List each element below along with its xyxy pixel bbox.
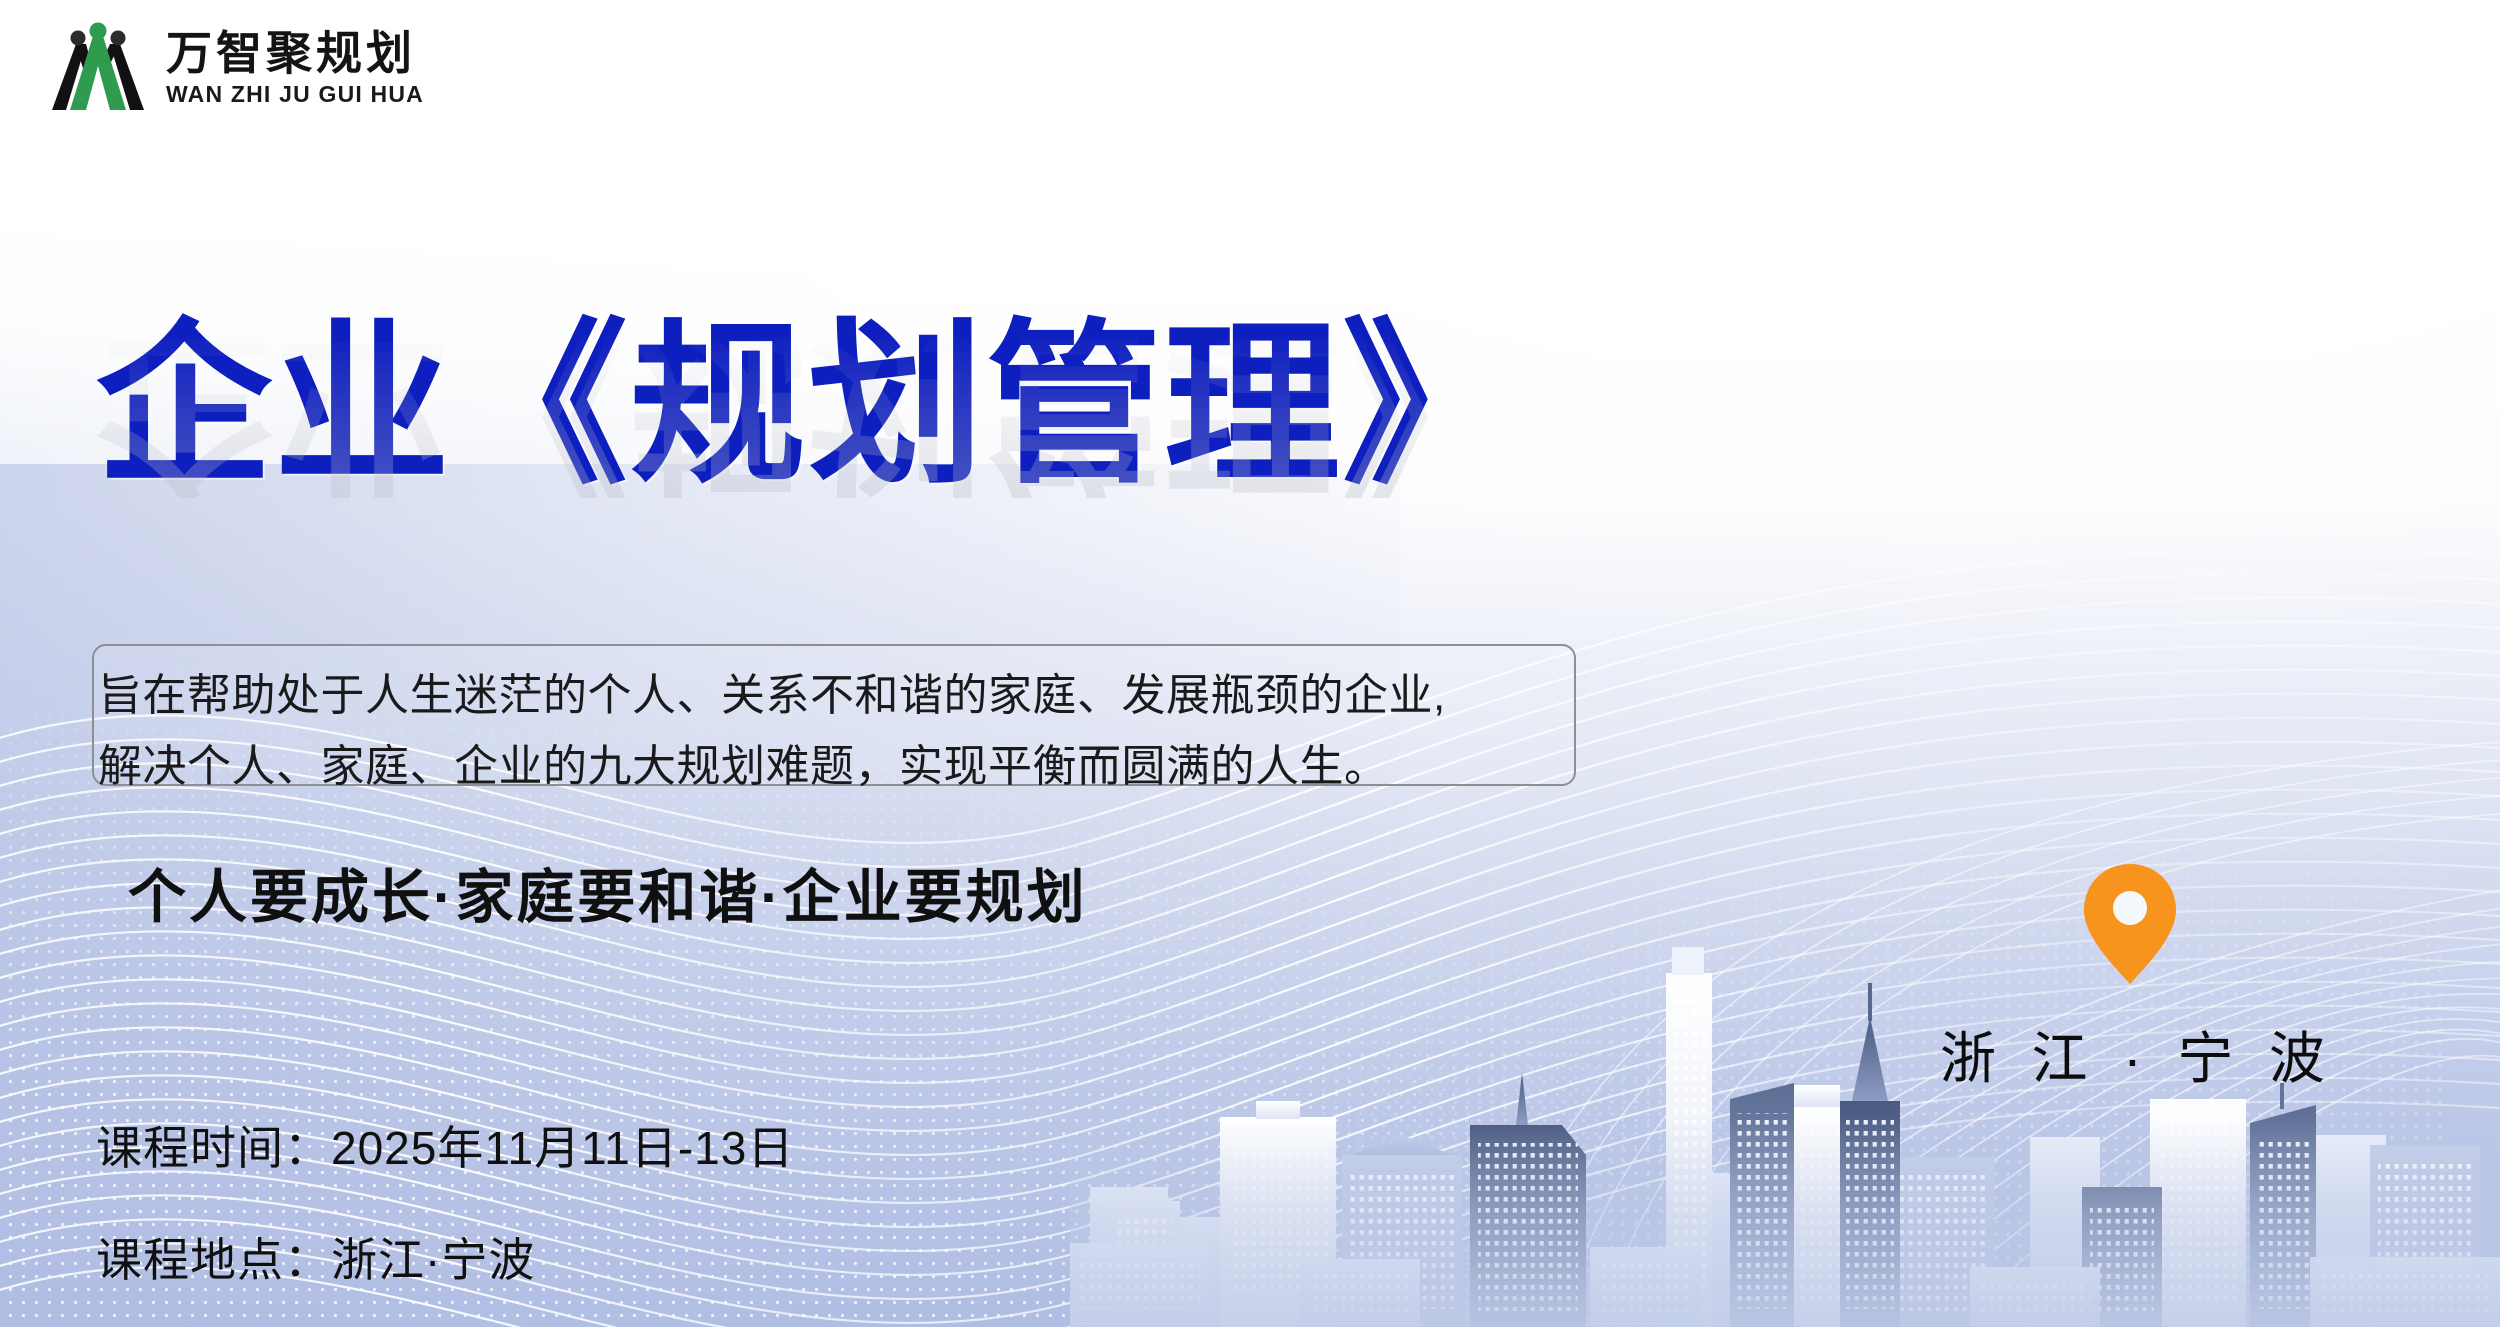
tagline: 个人要成长·家庭要和谐·企业要规划 xyxy=(128,850,1088,934)
main-title-block: 企业《规划管理》 企业《规划管理》 xyxy=(96,318,1520,674)
description-line-1: 旨在帮助处于人生迷茫的个人、关系不和谐的家庭、发展瓶颈的企业, xyxy=(98,660,1618,731)
course-info-block: 课程时间：2025年11月11日-13日 课程地点：浙江·宁波 xyxy=(96,1112,794,1290)
page-title: 企业《规划管理》 xyxy=(96,318,1520,494)
course-time: 课程时间：2025年11月11日-13日 xyxy=(96,1112,794,1178)
logo-text-block: 万智聚规划 WAN ZHI JU GUI HUA xyxy=(166,31,424,106)
poster-canvas: 万智聚规划 WAN ZHI JU GUI HUA 企业《规划管理》 企业《规划管… xyxy=(0,0,2500,1327)
map-pin-icon xyxy=(2078,860,2182,988)
location-name: 浙 江 · 宁 波 xyxy=(1940,1014,2320,1095)
description-line-2: 解决个人、家庭、企业的九大规划难题，实现平衡而圆满的人生。 xyxy=(98,731,1618,802)
logo-name-en: WAN ZHI JU GUI HUA xyxy=(166,83,424,106)
course-place: 课程地点：浙江·宁波 xyxy=(96,1224,794,1290)
logo-name-cn: 万智聚规划 xyxy=(166,31,424,77)
location-block: 浙 江 · 宁 波 xyxy=(1940,860,2320,1095)
brand-logo[interactable]: 万智聚规划 WAN ZHI JU GUI HUA xyxy=(48,22,424,114)
three-people-mountain-logo-icon xyxy=(48,22,148,114)
description-text: 旨在帮助处于人生迷茫的个人、关系不和谐的家庭、发展瓶颈的企业, 解决个人、家庭、… xyxy=(98,660,1618,803)
